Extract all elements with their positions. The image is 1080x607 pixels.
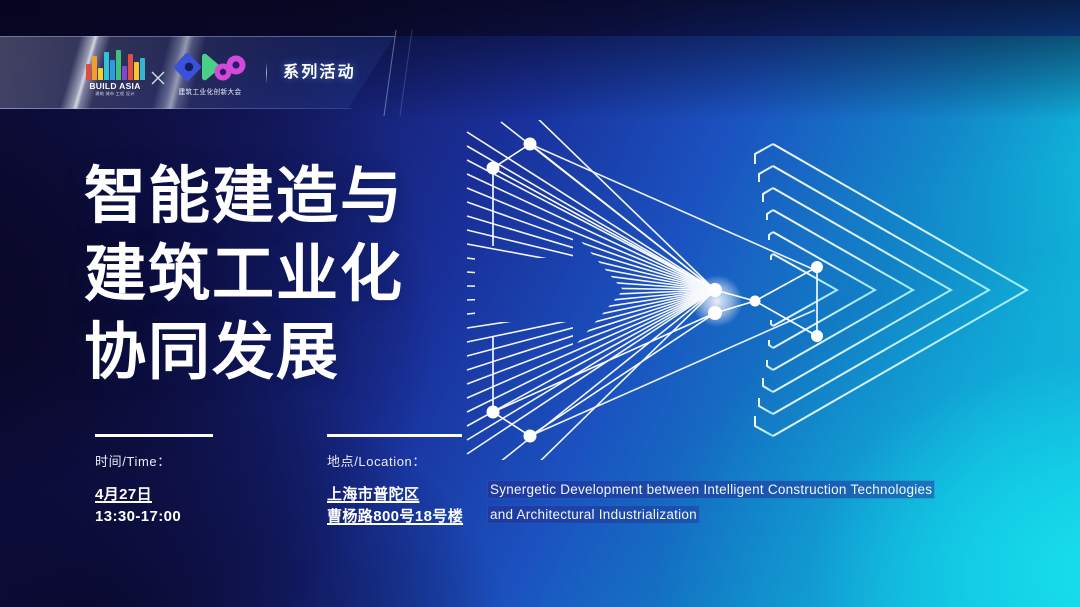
building-bars-icon bbox=[84, 50, 146, 80]
header-bottom-rule bbox=[0, 108, 352, 109]
english-subtitle: Synergetic Development between Intellige… bbox=[488, 477, 1018, 527]
time-range: 13:30-17:00 bbox=[95, 506, 245, 528]
page-title: 智能建造与 建筑工业化 协同发展 bbox=[84, 158, 464, 392]
conference-mark-icon bbox=[172, 52, 248, 82]
build-asia-name: BUILD ASIA bbox=[84, 82, 146, 91]
time-label: 时间/Time： bbox=[95, 451, 245, 470]
time-rule bbox=[95, 434, 213, 437]
conference-logo: 建筑工业化创新大会 bbox=[172, 52, 248, 97]
chevron-tails bbox=[755, 144, 773, 436]
build-asia-subtitle: 建筑 城市 工程 设计 bbox=[84, 92, 146, 96]
header-tag-label: 系列活动 bbox=[283, 62, 356, 84]
location-address: 曹杨路800号18号楼 bbox=[327, 506, 477, 528]
header-divider bbox=[266, 62, 267, 84]
conference-name: 建筑工业化创新大会 bbox=[172, 90, 248, 97]
title-line-1: 智能建造与 bbox=[84, 158, 464, 236]
location-district: 上海市普陀区 bbox=[327, 484, 477, 506]
event-banner: BUILD ASIA 建筑 城市 工程 设计 建筑工业化创新大会 系列活动 智能… bbox=[0, 0, 1080, 607]
subtitle-line-2: and Architectural Industrialization bbox=[488, 506, 699, 523]
build-asia-logo: BUILD ASIA 建筑 城市 工程 设计 bbox=[84, 50, 146, 96]
time-date: 4月27日 bbox=[95, 484, 245, 506]
node-network bbox=[493, 144, 817, 436]
event-details: 时间/Time： 4月27日 13:30-17:00 地点/Location： … bbox=[95, 434, 477, 528]
cross-icon bbox=[150, 70, 166, 86]
time-block: 时间/Time： 4月27日 13:30-17:00 bbox=[95, 434, 245, 528]
location-rule bbox=[327, 434, 462, 437]
network-arrow-illustration bbox=[455, 120, 1055, 460]
nested-chevrons bbox=[773, 144, 1027, 436]
subtitle-line-1: Synergetic Development between Intellige… bbox=[488, 481, 934, 498]
title-line-3: 协同发展 bbox=[84, 314, 464, 392]
title-line-2: 建筑工业化 bbox=[84, 236, 464, 314]
